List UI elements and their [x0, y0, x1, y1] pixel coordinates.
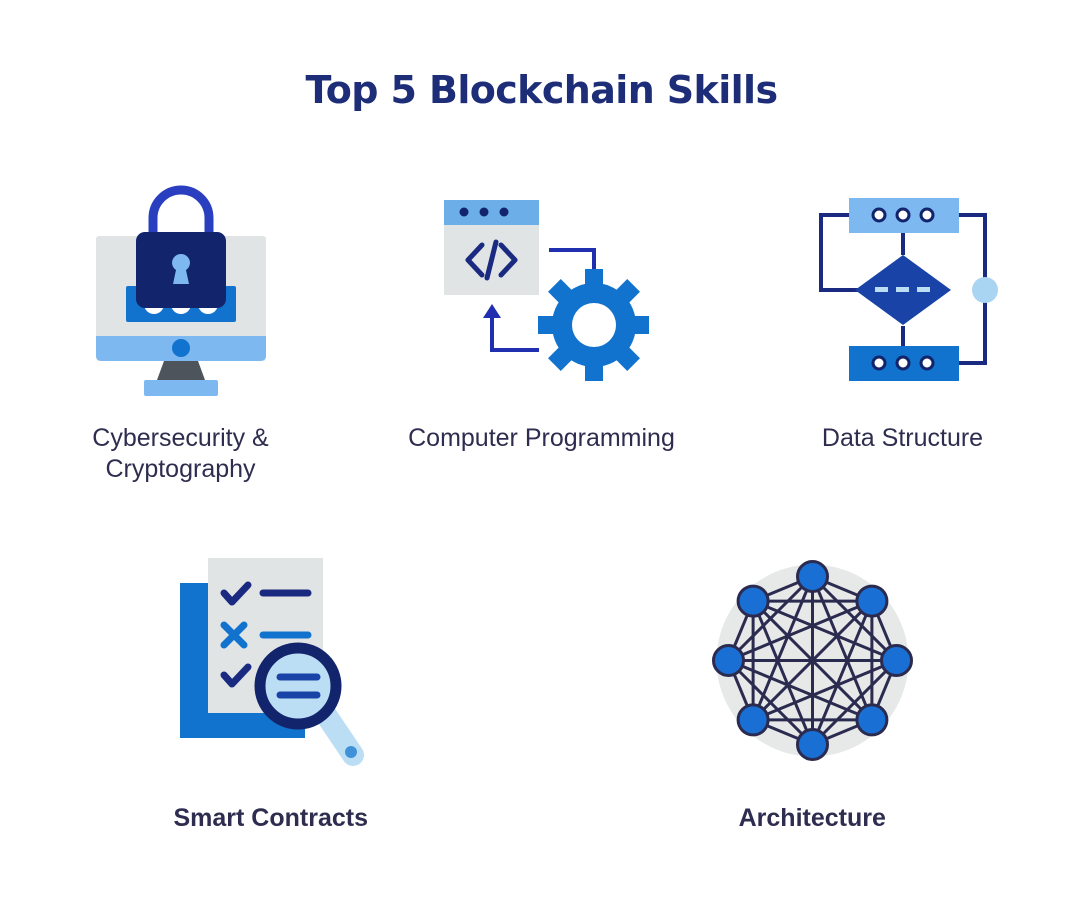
lock-monitor-icon [76, 178, 286, 403]
skills-row-bottom: Smart Contracts [0, 535, 1083, 834]
skill-label-cybersecurity: Cybersecurity & Cryptography [92, 423, 268, 485]
skills-row-top: Cybersecurity & Cryptography [0, 175, 1083, 485]
skill-label-architecture: Architecture [739, 803, 886, 834]
icon-area [710, 535, 915, 785]
icon-area [168, 535, 373, 785]
skill-card-computer-programming: Computer Programming [361, 175, 722, 485]
icon-area [434, 175, 649, 405]
code-window-gear-icon [434, 190, 649, 390]
skill-card-smart-contracts: Smart Contracts [0, 535, 542, 834]
checklist-magnifier-icon [168, 543, 373, 778]
infographic-root: Top 5 Blockchain Skills [0, 0, 1083, 900]
icon-area [76, 175, 286, 405]
skill-label-smart-contracts: Smart Contracts [174, 803, 369, 834]
skill-card-cybersecurity: Cybersecurity & Cryptography [0, 175, 361, 485]
network-graph-icon [710, 558, 915, 763]
skill-card-architecture: Architecture [542, 535, 1083, 834]
skill-card-data-structure: Data Structure [722, 175, 1083, 485]
skill-label-data-structure: Data Structure [822, 423, 983, 454]
flowchart-diamond-icon [803, 193, 1003, 388]
icon-area [803, 175, 1003, 405]
skill-label-computer-programming: Computer Programming [408, 423, 675, 454]
page-title: Top 5 Blockchain Skills [0, 68, 1083, 112]
